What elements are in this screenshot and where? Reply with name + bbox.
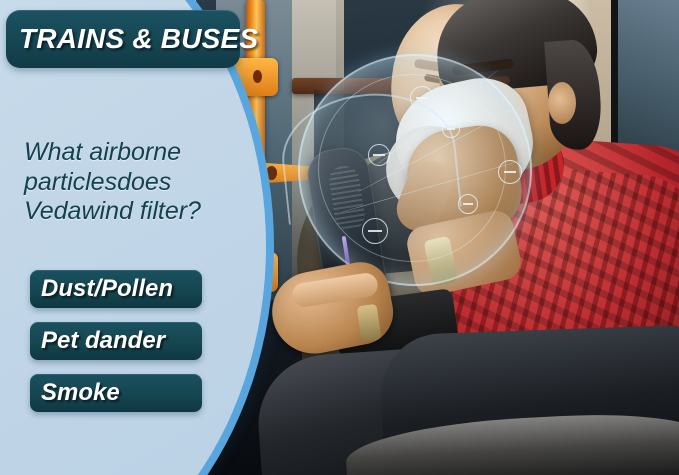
particle-icon xyxy=(442,120,460,138)
particle-icon xyxy=(498,160,522,184)
particle-icon xyxy=(458,194,478,214)
title-badge-label: TRAINS & BUSES xyxy=(6,23,258,55)
title-badge: TRAINS & BUSES xyxy=(6,10,240,68)
question-headline: What airborne particlesdoes Vedawind fil… xyxy=(24,138,239,227)
benefit-label: Smoke xyxy=(30,379,120,407)
benefit-item-dust-pollen: Dust/Pollen xyxy=(30,270,202,308)
benefit-item-pet-dander: Pet dander xyxy=(30,322,202,360)
question-line-1: What airborne xyxy=(24,138,239,168)
question-line-3: Vedawind filter? xyxy=(24,197,239,227)
benefit-label: Pet dander xyxy=(30,327,165,355)
particle-icon xyxy=(362,218,388,244)
right-man-ear xyxy=(548,82,576,124)
advertisement-banner: TRAINS & BUSES What airborne particlesdo… xyxy=(0,0,679,475)
question-line-2: particlesdoes xyxy=(24,168,239,198)
benefit-list: Dust/Pollen Pet dander Smoke xyxy=(30,270,202,426)
benefit-item-smoke: Smoke xyxy=(30,374,202,412)
particle-icon xyxy=(368,144,390,166)
particle-icon xyxy=(410,86,434,110)
benefit-label: Dust/Pollen xyxy=(30,275,173,303)
